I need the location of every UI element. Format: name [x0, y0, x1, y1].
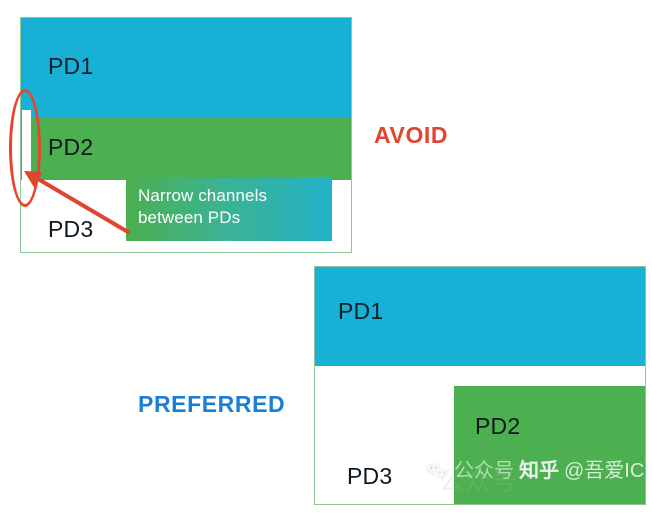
watermark-handle: @吾爱IC — [564, 461, 644, 481]
preferred-verdict-label: PREFERRED — [138, 391, 285, 418]
avoid-diagram-block: PD1 PD2 PD3 Narrow channels between PDs — [20, 17, 352, 253]
watermark-prefix: 公众号 — [454, 461, 514, 481]
narrow-channel-highlight-ellipse — [9, 89, 41, 207]
avoid-pd2-label: PD2 — [48, 136, 93, 159]
watermark-platform: 知乎 — [519, 461, 559, 481]
narrow-channels-callout: Narrow channels between PDs — [126, 178, 332, 241]
callout-line-2: between PDs — [138, 207, 322, 229]
callout-line-1: Narrow channels — [138, 185, 322, 207]
watermark: 公众号 知乎 @吾爱IC — [425, 461, 644, 481]
avoid-verdict-label: AVOID — [374, 122, 448, 149]
preferred-pd3-label: PD3 — [347, 465, 392, 488]
wechat-icon — [425, 461, 449, 481]
preferred-pd2-label: PD2 — [475, 415, 520, 438]
avoid-pd1-label: PD1 — [48, 55, 93, 78]
avoid-pd3-label: PD3 — [48, 218, 93, 241]
preferred-pd1-label: PD1 — [338, 300, 383, 323]
preferred-diagram-block: PD1 PD2 PD3 公众号 公众号 知乎 @吾爱IC — [314, 266, 646, 505]
diagram-canvas: PD1 PD2 PD3 Narrow channels between PDs … — [0, 0, 652, 514]
